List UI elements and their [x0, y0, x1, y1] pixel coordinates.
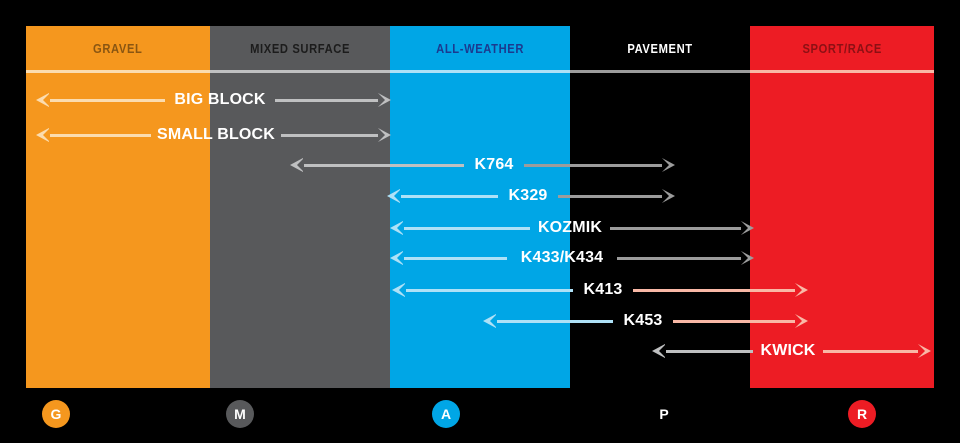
surface-badge-r[interactable]: R: [848, 400, 876, 428]
arrow-shaft-left: [403, 289, 573, 292]
surface-badge-p[interactable]: P: [650, 400, 678, 428]
arrow-shaft-right: [823, 350, 920, 353]
surface-badge-a[interactable]: A: [432, 400, 460, 428]
arrow-shaft-right: [633, 289, 797, 292]
arrow-shaft-right: [275, 99, 380, 102]
arrowhead-left-notch: [397, 221, 404, 235]
arrow-shaft-right: [558, 195, 664, 198]
arrow-row-k413: K413: [0, 275, 960, 305]
tire-model-label: KOZMIK: [529, 219, 611, 237]
tire-model-label: K413: [575, 281, 632, 299]
arrowhead-left-notch: [397, 251, 404, 265]
header-divider-sportrace: [750, 70, 934, 73]
arrowhead-left-notch: [297, 158, 304, 172]
tire-model-label: K329: [500, 187, 557, 205]
arrow-shaft-right: [281, 134, 380, 137]
arrow-shaft-left: [47, 134, 151, 137]
arrowhead-right-notch: [662, 158, 669, 172]
surface-column-label-sportrace: SPORT/RACE: [802, 41, 881, 56]
arrowhead-right-notch: [378, 93, 385, 107]
arrow-row-kozmik: KOZMIK: [0, 213, 960, 243]
arrow-shaft-right: [673, 320, 797, 323]
arrow-shaft-left: [401, 227, 530, 230]
surface-column-header-gravel: GRAVEL: [26, 26, 210, 70]
arrow-row-kwick: KWICK: [0, 336, 960, 366]
arrow-shaft-left: [494, 320, 613, 323]
surface-badge-m[interactable]: M: [226, 400, 254, 428]
surface-column-header-mixed: MIXED SURFACE: [210, 26, 390, 70]
arrowhead-right-notch: [795, 314, 802, 328]
arrow-row-k433-k434: K433/K434: [0, 243, 960, 273]
arrow-shaft-left: [47, 99, 165, 102]
arrowhead-left-notch: [490, 314, 497, 328]
arrow-shaft-left: [401, 257, 507, 260]
tire-model-label: SMALL BLOCK: [148, 126, 284, 144]
surface-column-label-mixed: MIXED SURFACE: [250, 41, 350, 56]
arrow-row-k453: K453: [0, 306, 960, 336]
arrowhead-right-notch: [378, 128, 385, 142]
tire-model-label: K453: [615, 312, 672, 330]
arrow-shaft-right: [524, 164, 664, 167]
tire-surface-chart: GRAVELMIXED SURFACEALL-WEATHERPAVEMENTSP…: [0, 0, 960, 443]
tire-model-label: K764: [466, 156, 523, 174]
arrow-row-big-block: BIG BLOCK: [0, 85, 960, 115]
arrowhead-right-notch: [662, 189, 669, 203]
header-divider-allweather: [390, 70, 570, 73]
arrowhead-right-notch: [741, 221, 748, 235]
tire-model-label: KWICK: [751, 342, 824, 360]
arrowhead-right-notch: [741, 251, 748, 265]
surface-column-label-gravel: GRAVEL: [93, 41, 142, 56]
arrowhead-right-notch: [795, 283, 802, 297]
arrowhead-right-notch: [918, 344, 925, 358]
tire-model-label: K433/K434: [512, 249, 612, 267]
arrow-shaft-left: [301, 164, 464, 167]
header-divider-mixed: [210, 70, 390, 73]
arrowhead-left-notch: [659, 344, 666, 358]
arrow-shaft-left: [663, 350, 753, 353]
arrowhead-left-notch: [43, 128, 50, 142]
header-divider-pavement: [570, 70, 750, 73]
surface-column-label-allweather: ALL-WEATHER: [436, 41, 524, 56]
arrowhead-left-notch: [399, 283, 406, 297]
arrow-shaft-right: [617, 257, 743, 260]
arrow-row-k329: K329: [0, 181, 960, 211]
arrow-shaft-left: [398, 195, 498, 198]
arrowhead-left-notch: [43, 93, 50, 107]
arrow-row-k764: K764: [0, 150, 960, 180]
arrow-row-small-block: SMALL BLOCK: [0, 120, 960, 150]
arrow-shaft-right: [610, 227, 743, 230]
arrowhead-left-notch: [394, 189, 401, 203]
tire-model-label: BIG BLOCK: [165, 91, 274, 109]
surface-column-header-allweather: ALL-WEATHER: [390, 26, 570, 70]
surface-badge-g[interactable]: G: [42, 400, 70, 428]
surface-column-header-sportrace: SPORT/RACE: [750, 26, 934, 70]
surface-column-header-pavement: PAVEMENT: [570, 26, 750, 70]
surface-column-label-pavement: PAVEMENT: [627, 41, 692, 56]
header-divider-gravel: [26, 70, 210, 73]
